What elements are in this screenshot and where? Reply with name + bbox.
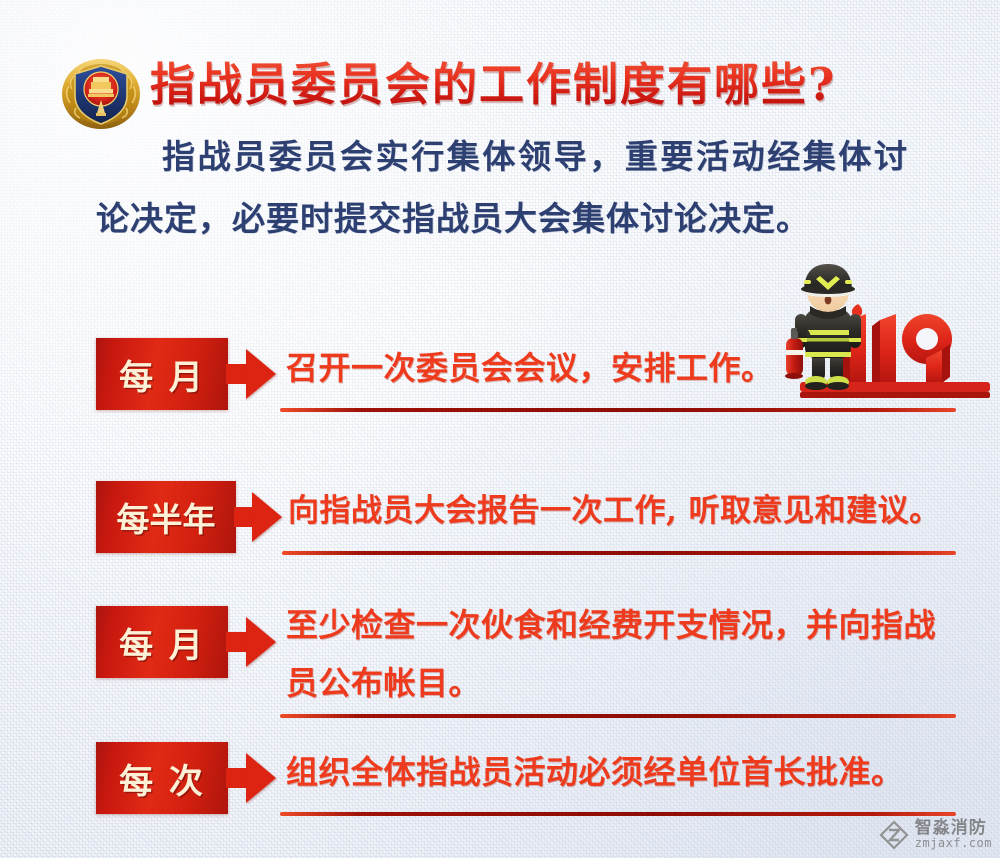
rule-underline-2: [282, 551, 956, 555]
china-fire-service-emblem-icon: [60, 56, 142, 130]
arrow-stem-4: [226, 768, 248, 788]
arrow-stem-3: [226, 632, 248, 652]
rule-underline-3: [280, 714, 956, 718]
poster-canvas: 指战员委员会的工作制度有哪些? 指战员委员会实行集体领导，重要活动经集体讨论决定…: [0, 0, 1000, 858]
watermark-site: zmjaxf.com: [915, 837, 992, 850]
arrow-stem-2: [234, 507, 254, 527]
rule-underline-4: [280, 812, 956, 816]
rule-tag-1: 每 月: [96, 338, 228, 410]
rule-tag-label: 每 月: [119, 618, 205, 667]
firefighter-mascot-illustration: [782, 258, 997, 410]
rule-tag-3: 每 月: [96, 606, 228, 678]
arrow-icon-3: [246, 617, 276, 667]
rule-text-1: 召开一次委员会会议，安排工作。: [286, 342, 774, 394]
arrow-icon-2: [252, 492, 282, 542]
page-title: 指战员委员会的工作制度有哪些?: [150, 54, 836, 116]
intro-paragraph: 指战员委员会实行集体领导，重要活动经集体讨论决定，必要时提交指战员大会集体讨论决…: [96, 126, 908, 250]
rule-underline-1: [280, 408, 956, 412]
rule-tag-label: 每 次: [119, 754, 205, 803]
rule-text-2: 向指战员大会报告一次工作, 听取意见和建议。: [288, 485, 941, 537]
rule-tag-4: 每 次: [96, 742, 228, 814]
arrow-icon-1: [246, 349, 276, 399]
rule-tag-2: 每半年: [96, 481, 236, 553]
watermark: 智淼消防 zmjaxf.com: [879, 820, 992, 850]
rule-tag-label: 每半年: [117, 493, 216, 541]
rule-text-4: 组织全体指战员活动必须经单位首长批准。: [286, 746, 904, 798]
arrow-stem-1: [226, 364, 248, 384]
watermark-texts: 智淼消防 zmjaxf.com: [915, 820, 992, 850]
rule-tag-label: 每 月: [119, 350, 205, 399]
rule-text-3: 至少检查一次伙食和经费开支情况，并向指战员公布帐目。: [286, 596, 962, 712]
header: 指战员委员会的工作制度有哪些?: [0, 24, 1000, 110]
zhimiao-diamond-logo-icon: [879, 820, 909, 850]
watermark-name: 智淼消防: [915, 820, 992, 838]
arrow-icon-4: [246, 753, 276, 803]
